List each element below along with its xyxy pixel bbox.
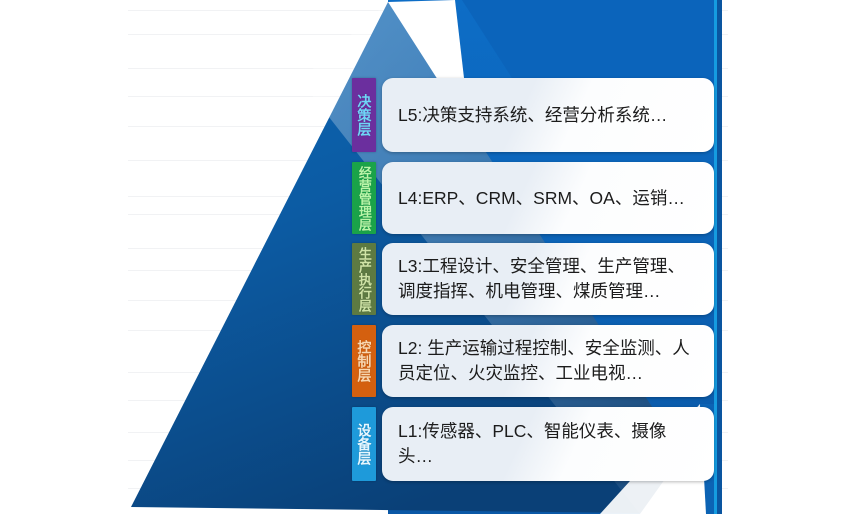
layer-tab-L1[interactable]: 设备层: [352, 407, 376, 481]
layer-row-L5[interactable]: 决策层 L5:决策支持系统、经营分析系统…: [350, 78, 722, 152]
layer-card-text: L5:决策支持系统、经营分析系统…: [398, 103, 667, 128]
layer-card-text: L3:工程设计、安全管理、生产管理、调度指挥、机电管理、煤质管理…: [398, 254, 700, 304]
layer-card-L5[interactable]: L5:决策支持系统、经营分析系统…: [382, 78, 714, 152]
layer-tab-L3[interactable]: 生产执行层: [352, 243, 376, 315]
layer-stack: 决策层 L5:决策支持系统、经营分析系统… 经营管理层 L4:ERP、CRM、S…: [350, 0, 722, 514]
layer-row-L2[interactable]: 控制层 L2: 生产运输过程控制、安全监测、人员定位、火灾监控、工业电视…: [350, 325, 722, 397]
layer-tab-L5[interactable]: 决策层: [352, 78, 376, 152]
layer-tab-label: 决策层: [357, 94, 372, 136]
layer-tab-L2[interactable]: 控制层: [352, 325, 376, 397]
layer-tab-label: 生产执行层: [357, 247, 371, 312]
layer-card-L4[interactable]: L4:ERP、CRM、SRM、OA、运销…: [382, 162, 714, 234]
diagram-canvas: 决策层 L5:决策支持系统、经营分析系统… 经营管理层 L4:ERP、CRM、S…: [0, 0, 856, 514]
layer-tab-label: 经营管理层: [357, 166, 371, 231]
layer-row-L4[interactable]: 经营管理层 L4:ERP、CRM、SRM、OA、运销…: [350, 162, 722, 234]
layer-card-L1[interactable]: L1:传感器、PLC、智能仪表、摄像头…: [382, 407, 714, 481]
layer-row-L1[interactable]: 设备层 L1:传感器、PLC、智能仪表、摄像头…: [350, 407, 722, 481]
layer-card-L2[interactable]: L2: 生产运输过程控制、安全监测、人员定位、火灾监控、工业电视…: [382, 325, 714, 397]
layer-tab-label: 控制层: [357, 340, 372, 382]
layer-row-L3[interactable]: 生产执行层 L3:工程设计、安全管理、生产管理、调度指挥、机电管理、煤质管理…: [350, 243, 722, 315]
layer-card-text: L1:传感器、PLC、智能仪表、摄像头…: [398, 419, 700, 469]
layer-card-text: L2: 生产运输过程控制、安全监测、人员定位、火灾监控、工业电视…: [398, 336, 700, 386]
divider-chevron-1: [818, 152, 830, 160]
layer-card-L3[interactable]: L3:工程设计、安全管理、生产管理、调度指挥、机电管理、煤质管理…: [382, 243, 714, 315]
layer-tab-L4[interactable]: 经营管理层: [352, 162, 376, 234]
layer-tab-label: 设备层: [357, 423, 372, 465]
layer-card-text: L4:ERP、CRM、SRM、OA、运销…: [398, 186, 685, 211]
